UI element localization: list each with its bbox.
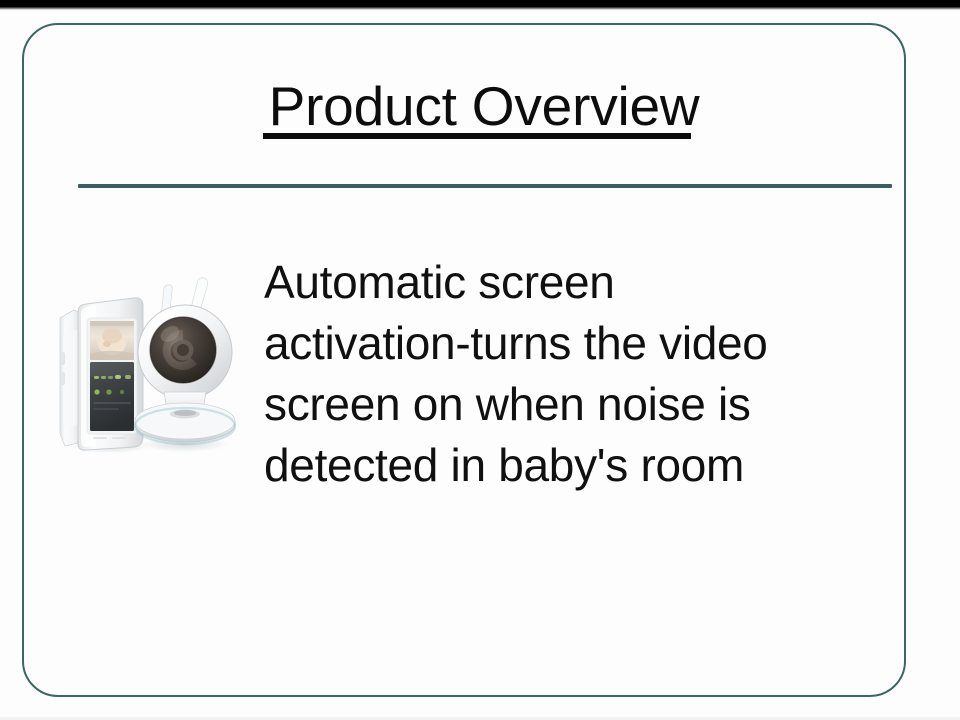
presentation-slide: Product Overview Automatic screen activa… xyxy=(0,0,960,720)
slide-body-text: Automatic screen activation-turns the vi… xyxy=(264,252,864,496)
product-image xyxy=(52,274,242,456)
letterbox-bar-top xyxy=(0,0,960,7)
letterbox-bar-fade xyxy=(0,7,960,10)
page-title: Product Overview xyxy=(267,78,704,134)
header-divider xyxy=(78,184,892,188)
title-underline-rule xyxy=(263,133,691,139)
slide-title-block: Product Overview xyxy=(78,78,892,134)
